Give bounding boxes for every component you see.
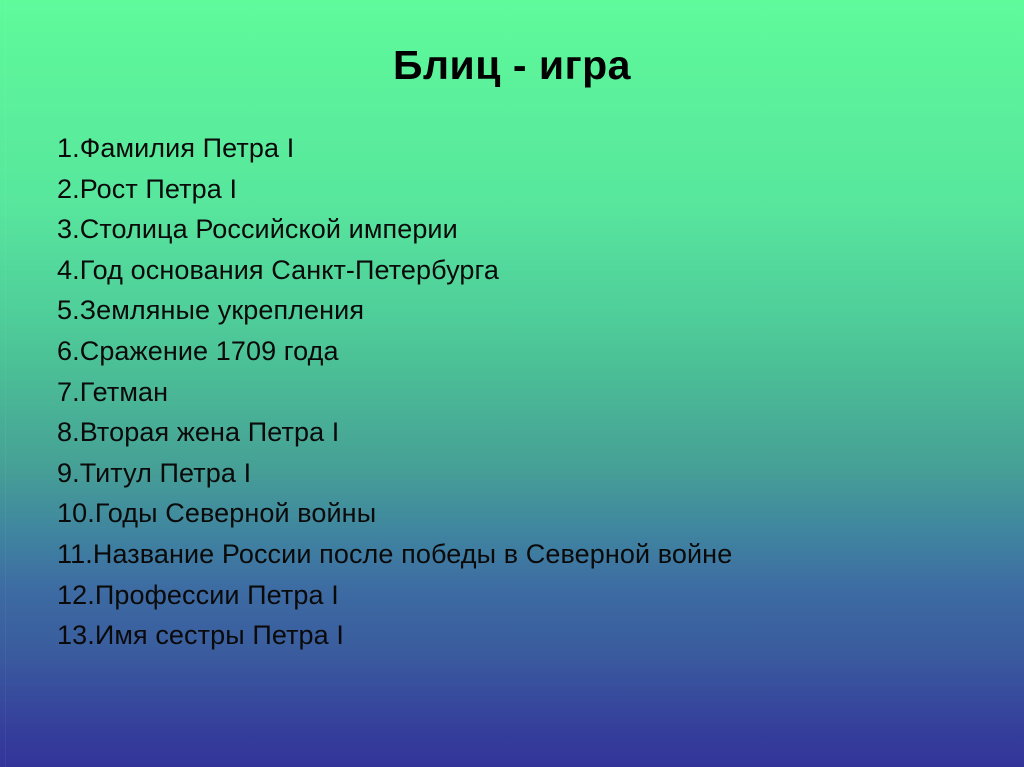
quiz-question-list: 1.Фамилия Петра I2.Рост Петра I3.Столица…: [57, 128, 957, 656]
list-item-label: Вторая жена Петра I: [80, 417, 340, 447]
list-item-label: Столица Российской империи: [80, 214, 458, 244]
list-item: 12.Профессии Петра I: [57, 575, 957, 616]
list-item-number: 4.: [57, 255, 80, 285]
list-item-number: 2.: [57, 174, 80, 204]
list-item-label: Год основания Санкт-Петербурга: [80, 255, 499, 285]
list-item: 9.Титул Петра I: [57, 453, 957, 494]
list-item-number: 1.: [57, 133, 80, 163]
page-title: Блиц - игра: [0, 40, 1024, 90]
list-item: 8.Вторая жена Петра I: [57, 412, 957, 453]
list-item-number: 5.: [57, 295, 80, 325]
list-item: 1.Фамилия Петра I: [57, 128, 957, 169]
list-item-label: Годы Северной войны: [95, 498, 376, 528]
list-item-label: Профессии Петра I: [95, 580, 339, 610]
list-item: 3.Столица Российской империи: [57, 209, 957, 250]
list-item-label: Земляные укрепления: [80, 295, 364, 325]
list-item-number: 3.: [57, 214, 80, 244]
list-item-label: Сражение 1709 года: [80, 336, 339, 366]
list-item: 7.Гетман: [57, 372, 957, 413]
list-item: 6.Сражение 1709 года: [57, 331, 957, 372]
list-item-label: Фамилия Петра I: [80, 133, 295, 163]
list-item: 10.Годы Северной войны: [57, 493, 957, 534]
list-item-number: 8.: [57, 417, 80, 447]
list-item-label: Гетман: [80, 377, 168, 407]
list-item: 13.Имя сестры Петра I: [57, 615, 957, 656]
list-item-number: 9.: [57, 458, 80, 488]
list-item: 4.Год основания Санкт-Петербурга: [57, 250, 957, 291]
presentation-slide: Блиц - игра 1.Фамилия Петра I2.Рост Петр…: [0, 0, 1024, 767]
list-item-label: Имя сестры Петра I: [95, 620, 344, 650]
list-item: 11.Название России после победы в Северн…: [57, 534, 957, 575]
list-item-number: 12.: [57, 580, 95, 610]
list-item-number: 11.: [57, 539, 93, 569]
list-item: 2.Рост Петра I: [57, 169, 957, 210]
list-item-label: Название России после победы в Северной …: [93, 539, 732, 569]
list-item: 5.Земляные укрепления: [57, 290, 957, 331]
list-item-label: Титул Петра I: [80, 458, 251, 488]
list-item-number: 13.: [57, 620, 95, 650]
list-item-number: 10.: [57, 498, 95, 528]
list-item-number: 6.: [57, 336, 80, 366]
list-item-label: Рост Петра I: [80, 174, 237, 204]
list-item-number: 7.: [57, 377, 80, 407]
